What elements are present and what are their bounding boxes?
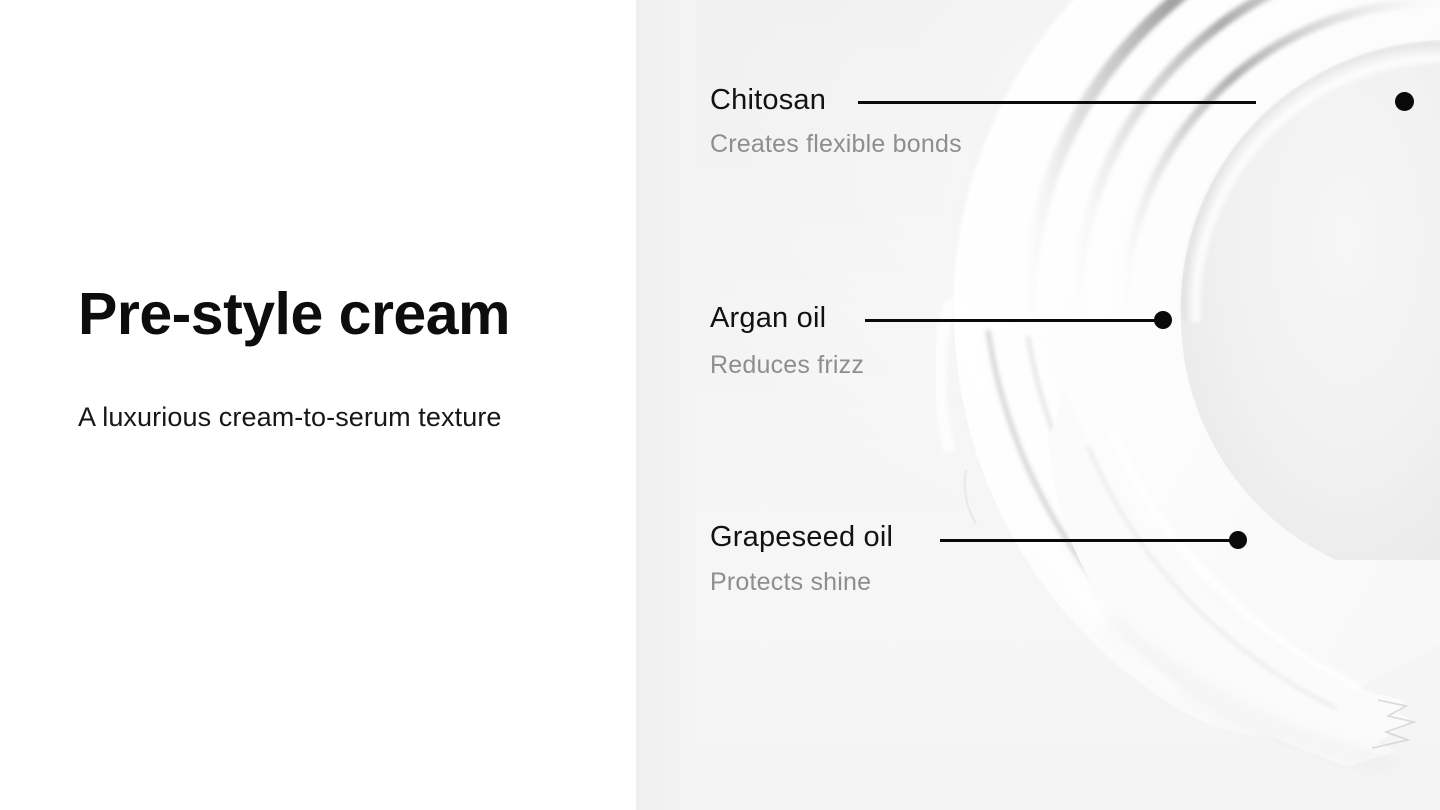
callout-grapeseed-oil[interactable]: Grapeseed oil Protects shine — [710, 0, 1440, 640]
page-title: Pre-style cream — [78, 284, 598, 346]
callout-grapeseed-oil-description: Protects shine — [710, 568, 871, 597]
page-subtitle: A luxurious cream-to-serum texture — [78, 390, 528, 444]
callout-grapeseed-oil-leader-line — [940, 539, 1237, 542]
left-text-panel: Pre-style cream A luxurious cream-to-ser… — [0, 0, 636, 810]
callout-grapeseed-oil-endpoint-dot — [1229, 531, 1247, 549]
callout-grapeseed-oil-label: Grapeseed oil — [710, 521, 893, 554]
slide-root: Pre-style cream A luxurious cream-to-ser… — [0, 0, 1440, 810]
right-image-panel: Chitosan Creates flexible bonds Argan oi… — [636, 0, 1440, 810]
